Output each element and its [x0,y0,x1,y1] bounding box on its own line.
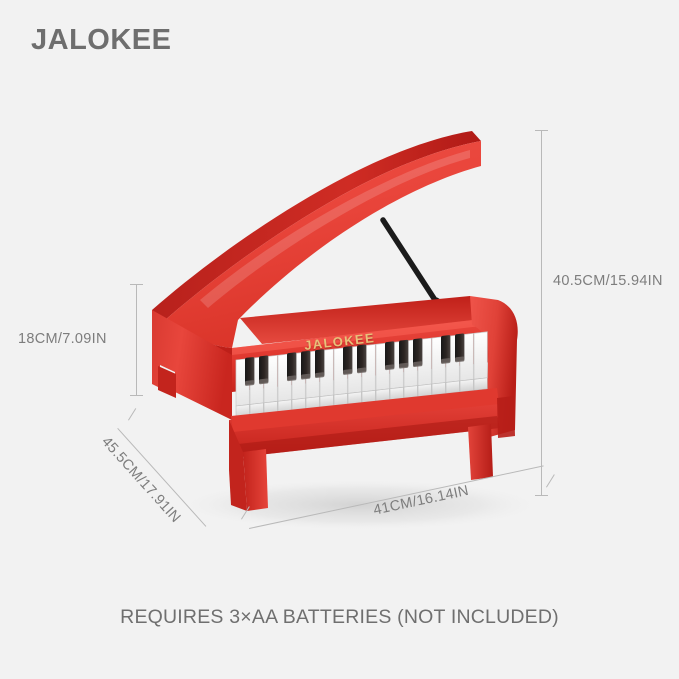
dimension-line-height-total [541,130,542,496]
dimension-label-height-total: 40.5CM/15.94IN [553,273,663,289]
piano-leg-front-left [243,449,268,511]
piano-right-cheek [470,296,518,438]
piano-keyslip [231,388,499,432]
piano-lid-hinge-bevel [152,310,232,360]
dimension-cap-top-height-total [535,130,548,131]
piano-leg-rear-right [497,396,515,438]
piano-leg-front-right [468,424,493,480]
dimension-line-height-front [136,284,137,396]
piano-left-side-panel [152,310,232,420]
dimension-tick-width-left [241,506,250,519]
product-brand-badge: JALOKEE [303,330,375,353]
dimension-label-height-front: 18CM/7.09IN [18,331,107,347]
dimension-cap-bottom-height-front [130,395,143,396]
piano-leg-rear-left [158,366,176,398]
dimension-cap-top-height-front [130,284,143,285]
dimension-label-depth: 45.5CM/17.91IN [98,434,183,526]
prop-rod-foot [431,297,440,306]
product-image-canvas: JALOKEE [0,0,679,679]
lid-prop-rod [383,220,435,300]
piano-keybed [229,392,500,458]
lid-highlight [200,150,470,308]
keybed-front-shadow [229,416,500,458]
piano-lid-edge [152,131,481,321]
piano-lid [164,141,481,348]
brand-logo: JALOKEE [31,24,171,57]
dimension-label-width: 41CM/16.14IN [372,483,470,519]
piano-left-base-return [229,420,247,511]
dimension-cap-bottom-height-total [535,495,548,496]
piano-fallboard [232,318,492,392]
dimension-tick-depth-top [128,408,136,420]
dimension-tick-width-right [546,474,555,487]
battery-requirement-note: REQUIRES 3×AA BATTERIES (NOT INCLUDED) [0,606,679,629]
